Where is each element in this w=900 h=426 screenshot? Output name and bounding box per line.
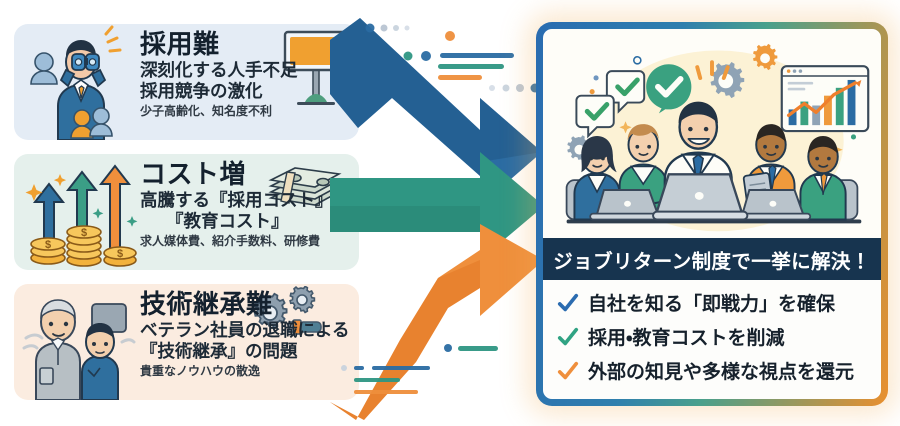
problem-card-cost-text: コスト増 高騰する『採用コスト』 『教育コスト』 求人媒体費、紹介手数料、研修費	[140, 160, 353, 250]
problem-card-hiring-text: 採用難 深刻化する人手不足 採用競争の激化 少子高齢化、知名度不利	[140, 30, 353, 120]
problem-card-cost-subtitle-2: 『教育コスト』	[140, 211, 353, 232]
problem-card-cost: $ $ $	[14, 154, 359, 270]
problem-card-skill-subtitle-2: 『技術継承』の問題	[140, 341, 353, 362]
problem-card-cost-subtitle-1: 高騰する『採用コスト』	[140, 190, 353, 211]
problem-card-skill: 技術継承難 ベテラン社員の退職による 『技術継承』の問題 貴重なノウハウの散逸	[14, 284, 359, 400]
benefit-item-label: 自社を知る「即戦力」を確保	[588, 289, 835, 316]
problem-card-hiring-subtitle-2: 採用競争の激化	[140, 81, 353, 102]
solution-banner: ジョブリターン制度で一挙に解決！	[543, 238, 881, 280]
problem-card-skill-text: 技術継承難 ベテラン社員の退職による 『技術継承』の問題 貴重なノウハウの散逸	[140, 290, 353, 380]
solution-hero	[543, 29, 881, 238]
benefit-item: 外部の知見や多様な視点を還元	[557, 357, 881, 384]
benefit-item: 採用・教育コストを削減	[557, 323, 881, 350]
benefit-item-label: 外部の知見や多様な視点を還元	[588, 357, 854, 384]
problem-card-skill-subtitle-1: ベテラン社員の退職による	[140, 320, 353, 341]
benefit-item: 自社を知る「即戦力」を確保	[557, 289, 881, 316]
problem-card-hiring-subtitle-1: 深刻化する人手不足	[140, 60, 353, 81]
problem-card-skill-note: 貴重なノウハウの散逸	[140, 364, 353, 380]
svg-text:$: $	[81, 227, 87, 239]
team-member-avatar	[800, 136, 857, 220]
solution-banner-text: ジョブリターン制度で一挙に解決！	[553, 245, 870, 274]
problem-card-cost-note: 求人媒体費、紹介手数料、研修費	[140, 234, 353, 250]
rising-arrows-and-coin-stacks-icon: $ $ $	[22, 154, 142, 270]
problem-card-hiring: 採用難 深刻化する人手不足 採用競争の激化 少子高齢化、知名度不利	[14, 24, 359, 140]
infographic-canvas: 採用難 深刻化する人手不足 採用競争の激化 少子高齢化、知名度不利 $	[0, 0, 900, 426]
check-icon	[557, 292, 579, 314]
check-icon	[557, 326, 579, 348]
svg-text:$: $	[117, 248, 123, 260]
svg-text:$: $	[45, 239, 51, 251]
check-icon	[557, 360, 579, 382]
solution-panel: ジョブリターン制度で一挙に解決！ 自社を知る「即戦力」を確保 採用・教育コストを…	[536, 22, 888, 406]
problem-card-cost-title: コスト増	[140, 160, 353, 188]
senior-and-junior-worker-icon	[22, 284, 142, 400]
man-with-binoculars-icon	[22, 24, 142, 140]
benefit-list: 自社を知る「即戦力」を確保 採用・教育コストを削減 外部の知見や多様な視点を還元	[543, 280, 881, 399]
problem-card-hiring-note: 少子高齢化、知名度不利	[140, 104, 353, 120]
smiling-business-team-with-laptops-illustration	[543, 29, 881, 238]
problem-card-skill-title: 技術継承難	[140, 290, 353, 318]
problem-card-hiring-title: 採用難	[140, 30, 353, 58]
benefit-item-label: 採用・教育コストを削減	[588, 323, 784, 350]
growth-bar-chart-window-icon	[782, 66, 868, 131]
